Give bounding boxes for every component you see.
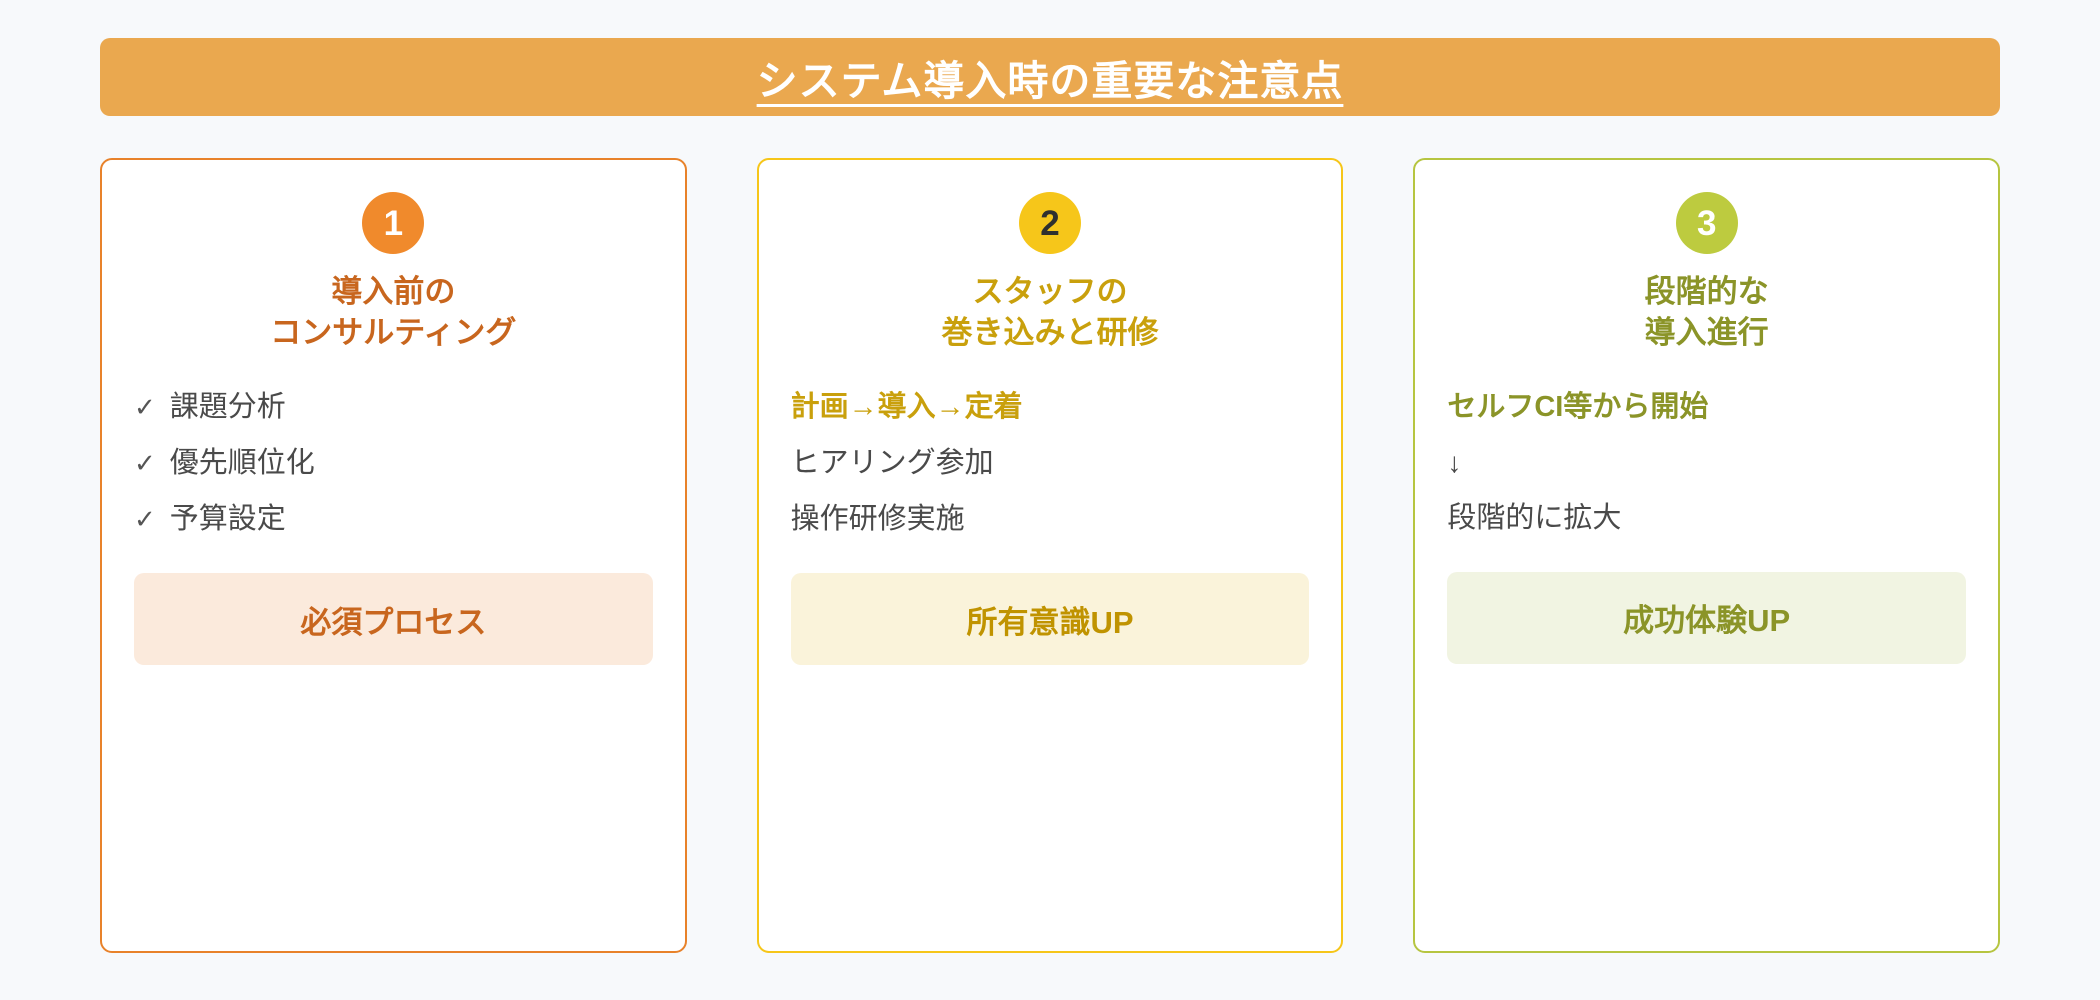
list-item: 操作研修実施 xyxy=(791,500,1310,539)
card-grid: 1 導入前の コンサルティング ✓ 課題分析 ✓ 優先順位化 ✓ 予算設定 xyxy=(100,158,2000,953)
down-arrow-icon: ↓ xyxy=(1447,444,1966,482)
card-title-line2: コンサルティング xyxy=(134,313,653,354)
list-item: ヒアリング参加 xyxy=(791,444,1310,483)
slide-root: システム導入時の重要な注意点 1 導入前の コンサルティング ✓ 課題分析 ✓ … xyxy=(0,0,2100,1000)
status-badge-3: 成功体験UP xyxy=(1447,572,1966,664)
step-card-1[interactable]: 1 導入前の コンサルティング ✓ 課題分析 ✓ 優先順位化 ✓ 予算設定 xyxy=(100,158,687,953)
card-item-list-2: 計画→導入→定着 ヒアリング参加 操作研修実施 xyxy=(791,388,1310,539)
card-item-list-3: セルフCI等から開始 ↓ 段階的に拡大 xyxy=(1447,388,1966,538)
list-item: ✓ 予算設定 xyxy=(134,500,653,539)
list-item-label: 計画→導入→定着 xyxy=(791,388,1023,427)
check-icon: ✓ xyxy=(134,394,156,420)
step-card-2[interactable]: 2 スタッフの 巻き込みと研修 計画→導入→定着 ヒアリング参加 操作研修実施 … xyxy=(757,158,1344,953)
list-item-label: 操作研修実施 xyxy=(791,500,965,539)
card-title-line1: 導入前の xyxy=(134,272,653,313)
status-badge-2: 所有意識UP xyxy=(791,573,1310,665)
page-title: システム導入時の重要な注意点 xyxy=(757,47,1344,107)
list-item-label: 予算設定 xyxy=(170,500,286,539)
check-icon: ✓ xyxy=(134,450,156,476)
card-title-line1: スタッフの xyxy=(791,272,1310,313)
status-badge-1: 必須プロセス xyxy=(134,573,653,665)
step-number-badge-1: 1 xyxy=(362,192,424,254)
step-card-3[interactable]: 3 段階的な 導入進行 セルフCI等から開始 ↓ 段階的に拡大 成功体験UP xyxy=(1413,158,2000,953)
header-banner: システム導入時の重要な注意点 xyxy=(100,38,2000,116)
list-item: 計画→導入→定着 xyxy=(791,388,1310,427)
check-icon: ✓ xyxy=(134,506,156,532)
list-item-label: ヒアリング参加 xyxy=(791,444,994,483)
list-item: ✓ 優先順位化 xyxy=(134,444,653,483)
card-title-line1: 段階的な xyxy=(1447,272,1966,313)
step-number-badge-3: 3 xyxy=(1676,192,1738,254)
card-title-2: スタッフの 巻き込みと研修 xyxy=(791,272,1310,354)
list-item-label: 優先順位化 xyxy=(170,444,315,483)
list-item: 段階的に拡大 xyxy=(1447,499,1966,538)
card-title-line2: 導入進行 xyxy=(1447,313,1966,354)
card-title-1: 導入前の コンサルティング xyxy=(134,272,653,354)
list-item-label: 課題分析 xyxy=(170,388,286,427)
card-title-3: 段階的な 導入進行 xyxy=(1447,272,1966,354)
list-item-label: セルフCI等から開始 xyxy=(1447,388,1708,427)
list-item: ✓ 課題分析 xyxy=(134,388,653,427)
step-number-badge-2: 2 xyxy=(1019,192,1081,254)
list-item-label: 段階的に拡大 xyxy=(1447,499,1621,538)
card-title-line2: 巻き込みと研修 xyxy=(791,313,1310,354)
list-item: セルフCI等から開始 xyxy=(1447,388,1966,427)
card-item-list-1: ✓ 課題分析 ✓ 優先順位化 ✓ 予算設定 xyxy=(134,388,653,539)
